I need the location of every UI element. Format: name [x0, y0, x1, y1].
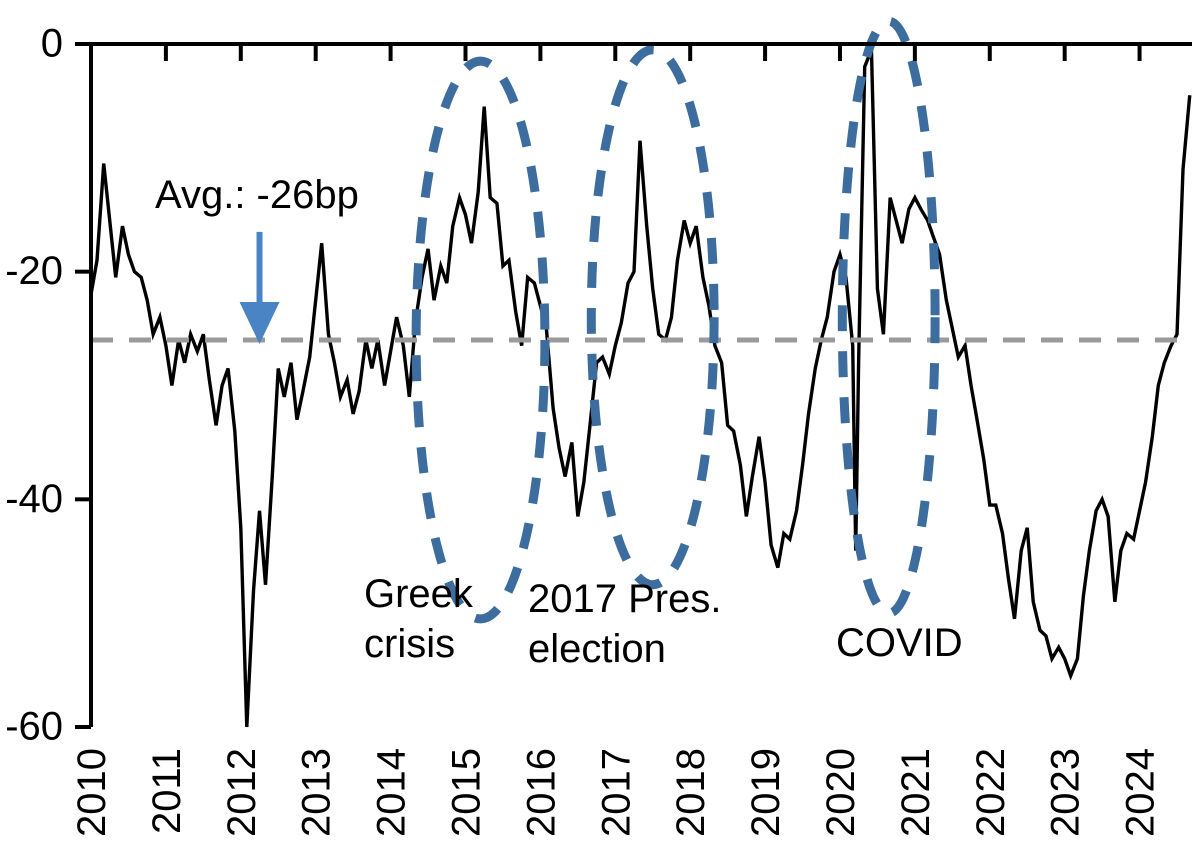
x-tick-label-9: 2019: [744, 748, 788, 837]
chart-background: [0, 0, 1200, 852]
average-note-label: Avg.: -26bp: [155, 173, 359, 217]
x-tick-label-3: 2013: [295, 748, 339, 837]
x-tick-label-12: 2022: [969, 748, 1013, 837]
x-axis-tick-labels: 2010201120122013201420152016201720182019…: [70, 748, 1163, 837]
x-tick-label-10: 2020: [819, 748, 863, 837]
y-tick-label-1: -20: [5, 249, 63, 293]
annotation-label-election-line2: election: [528, 627, 666, 671]
annotation-label-greek-crisis-line1: Greek: [364, 572, 474, 616]
annotation-label-covid: COVID: [836, 621, 963, 665]
y-tick-label-0: 0: [41, 22, 63, 66]
x-tick-label-4: 2014: [370, 748, 414, 837]
x-tick-label-14: 2024: [1119, 748, 1163, 837]
x-tick-label-5: 2015: [444, 748, 488, 837]
x-tick-label-8: 2018: [669, 748, 713, 837]
x-tick-label-11: 2021: [894, 748, 938, 837]
annotation-label-greek-crisis-line2: crisis: [364, 622, 455, 666]
x-tick-label-6: 2016: [519, 748, 563, 837]
annotation-label-election-line1: 2017 Pres.: [528, 577, 721, 621]
x-tick-label-13: 2023: [1044, 748, 1088, 837]
y-tick-label-2: -40: [5, 477, 63, 521]
line-chart-figure: 0-20-40-60 20102011201220132014201520162…: [0, 0, 1200, 852]
chart-container: 0-20-40-60 20102011201220132014201520162…: [0, 0, 1200, 852]
x-tick-label-2: 2012: [220, 748, 264, 837]
x-tick-label-7: 2017: [594, 748, 638, 837]
x-tick-label-1: 2011: [145, 748, 189, 834]
x-tick-label-0: 2010: [70, 748, 114, 837]
y-tick-label-3: -60: [5, 705, 63, 749]
